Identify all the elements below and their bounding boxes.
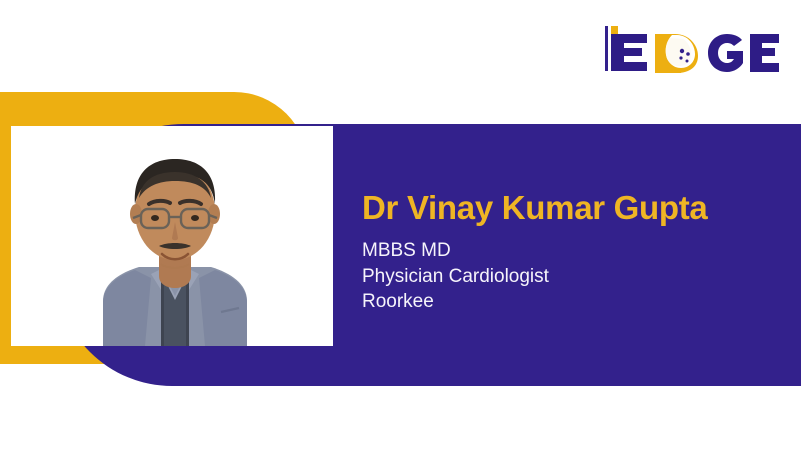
speaker-name: Dr Vinay Kumar Gupta — [362, 190, 782, 226]
speaker-credential-location: Roorkee — [362, 289, 782, 314]
edge-logo — [603, 18, 781, 84]
speaker-credential-degree: MBBS MD — [362, 238, 782, 263]
speaker-credential-specialty: Physician Cardiologist — [362, 264, 782, 289]
avatar — [89, 126, 261, 346]
background-watermark — [430, 418, 760, 444]
speaker-photo-card — [11, 126, 333, 346]
speaker-intro-slide: Dr Vinay Kumar Gupta MBBS MD Physician C… — [0, 0, 801, 450]
speaker-details: Dr Vinay Kumar Gupta MBBS MD Physician C… — [362, 190, 782, 314]
